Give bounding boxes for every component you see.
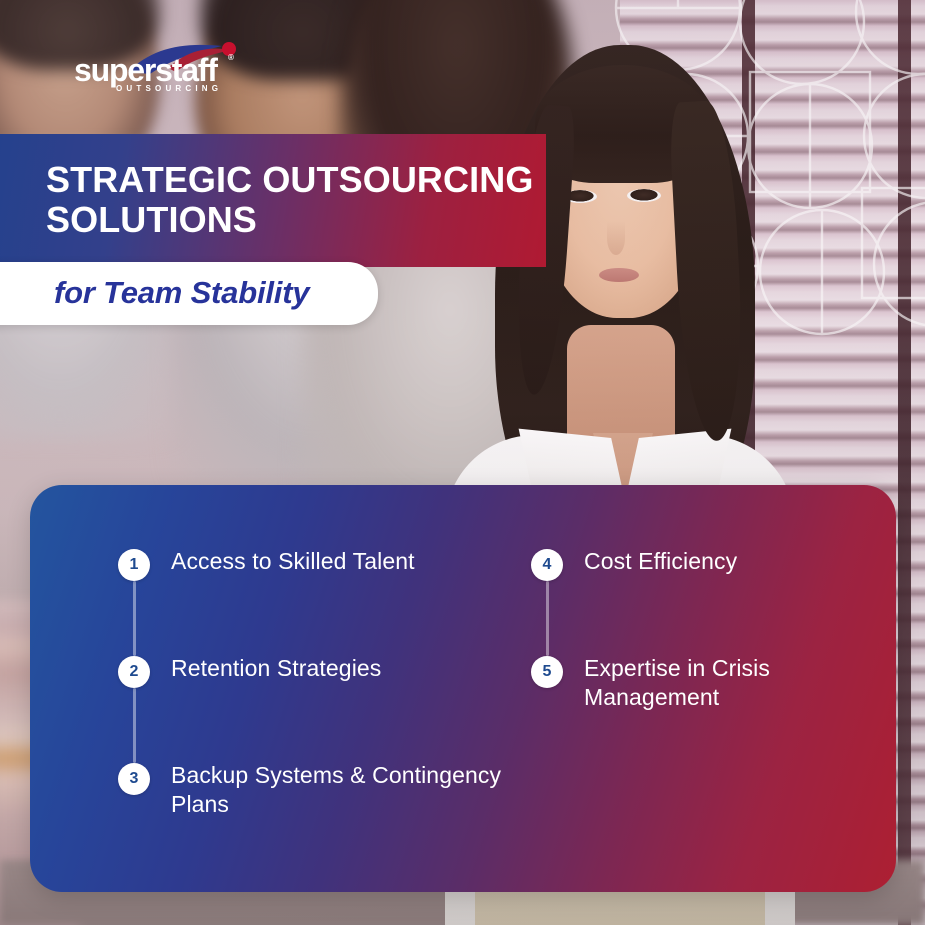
superstaff-logo[interactable]: superstaff ® OUTSOURCING	[74, 44, 244, 90]
subject-trousers	[475, 887, 765, 925]
list-item-number-badge: 2	[118, 656, 150, 688]
list-item-label: Access to Skilled Talent	[171, 547, 415, 576]
connector-line-2-3	[133, 688, 136, 763]
page-subtitle: for Team Stability	[54, 274, 384, 311]
subject-mouth	[599, 268, 639, 282]
logo-registered-mark: ®	[228, 53, 234, 62]
benefits-column-left: 1 Access to Skilled Talent 2 Retention S…	[70, 547, 463, 852]
subject-nose	[607, 221, 625, 255]
list-item-label: Cost Efficiency	[584, 547, 737, 576]
page-title: STRATEGIC OUTSOURCING SOLUTIONS	[46, 160, 546, 241]
list-item[interactable]: 5 Expertise in Crisis Management	[531, 654, 896, 713]
list-item[interactable]: 3 Backup Systems & Contingency Plans	[118, 761, 508, 820]
list-item-number-badge: 3	[118, 763, 150, 795]
logo-tagline: OUTSOURCING	[116, 84, 222, 93]
subject-eye-right	[627, 189, 661, 202]
benefits-card: 1 Access to Skilled Talent 2 Retention S…	[30, 485, 896, 892]
list-item-number-badge: 4	[531, 549, 563, 581]
poster-canvas: superstaff ® OUTSOURCING STRATEGIC OUTSO…	[0, 0, 925, 925]
list-item-number-badge: 5	[531, 656, 563, 688]
list-item[interactable]: 2 Retention Strategies	[118, 654, 508, 688]
list-item-label: Backup Systems & Contingency Plans	[171, 761, 508, 820]
list-item-number-badge: 1	[118, 549, 150, 581]
logo-wordmark: superstaff	[74, 54, 217, 86]
connector-line-1-2	[133, 581, 136, 656]
connector-line-4-5	[546, 581, 549, 656]
list-item-label: Expertise in Crisis Management	[584, 654, 896, 713]
list-item-label: Retention Strategies	[171, 654, 381, 683]
list-item[interactable]: 4 Cost Efficiency	[531, 547, 896, 581]
list-item[interactable]: 1 Access to Skilled Talent	[118, 547, 508, 581]
benefits-column-right: 4 Cost Efficiency 5 Expertise in Crisis …	[463, 547, 856, 852]
